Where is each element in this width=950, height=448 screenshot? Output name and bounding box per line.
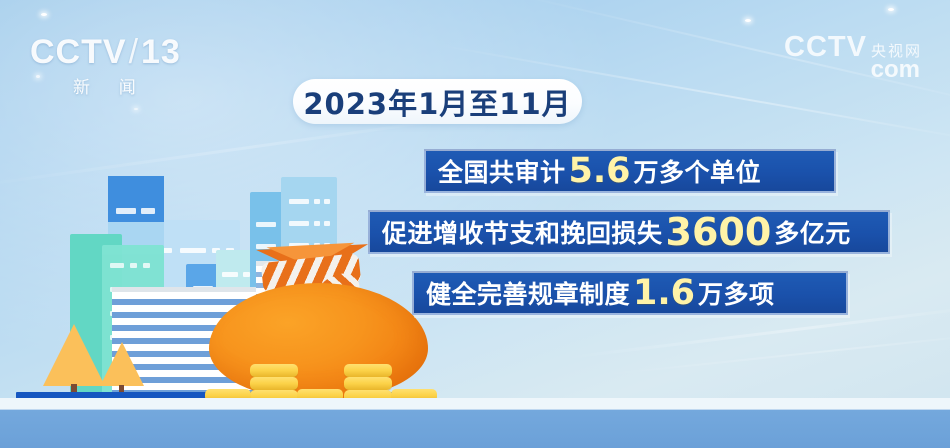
coin [250, 377, 298, 390]
logo-slash: / [127, 33, 141, 71]
coin [250, 364, 298, 377]
stat-value: 5.6 [566, 154, 634, 189]
stat-prefix: 健全完善规章制度 [426, 275, 630, 311]
headline-date-text: 2023年1月至11月 [303, 81, 571, 123]
stat-suffix: 多亿元 [774, 214, 851, 250]
news-graphic-stage: CCTV/13 新 闻 CCTV央视网 com 2023年1月至11月 全国共审… [0, 0, 950, 448]
stat-bar-regulations-improved: 健全完善规章制度 1.6 万多项 [412, 271, 848, 315]
coin [344, 377, 392, 390]
light-streak [601, 330, 950, 376]
cctv-com-network-logo: CCTV央视网 com [784, 33, 922, 82]
sparkle-dot [888, 8, 894, 11]
cctvcom-logo-text: CCTV [784, 31, 867, 63]
cctv13-logo-text: CCTV [30, 33, 127, 71]
cctv13-channel-logo: CCTV/13 新 闻 [30, 34, 181, 98]
stat-value: 3600 [663, 213, 775, 251]
water-band [0, 409, 950, 448]
tree-icon [43, 321, 105, 386]
stat-bar-audited-units: 全国共审计 5.6 万多个单位 [424, 149, 836, 193]
stat-suffix: 万多个单位 [634, 153, 762, 189]
sparkle-dot [745, 19, 751, 22]
stat-bar-recovered-losses: 促进增收节支和挽回损失 3600 多亿元 [368, 210, 890, 254]
coin [344, 364, 392, 377]
sparkle-dot [41, 13, 47, 16]
stat-value: 1.6 [630, 276, 698, 311]
sparkle-dot [134, 108, 138, 110]
cctv13-logo-sub: 新 闻 [30, 73, 181, 98]
stat-prefix: 促进增收节支和挽回损失 [382, 214, 663, 250]
tree-icon [100, 339, 144, 386]
headline-date-pill: 2023年1月至11月 [293, 79, 582, 124]
stat-suffix: 万多项 [698, 275, 775, 311]
cctv13-logo-number: 13 [141, 33, 181, 71]
stat-prefix: 全国共审计 [438, 153, 566, 189]
